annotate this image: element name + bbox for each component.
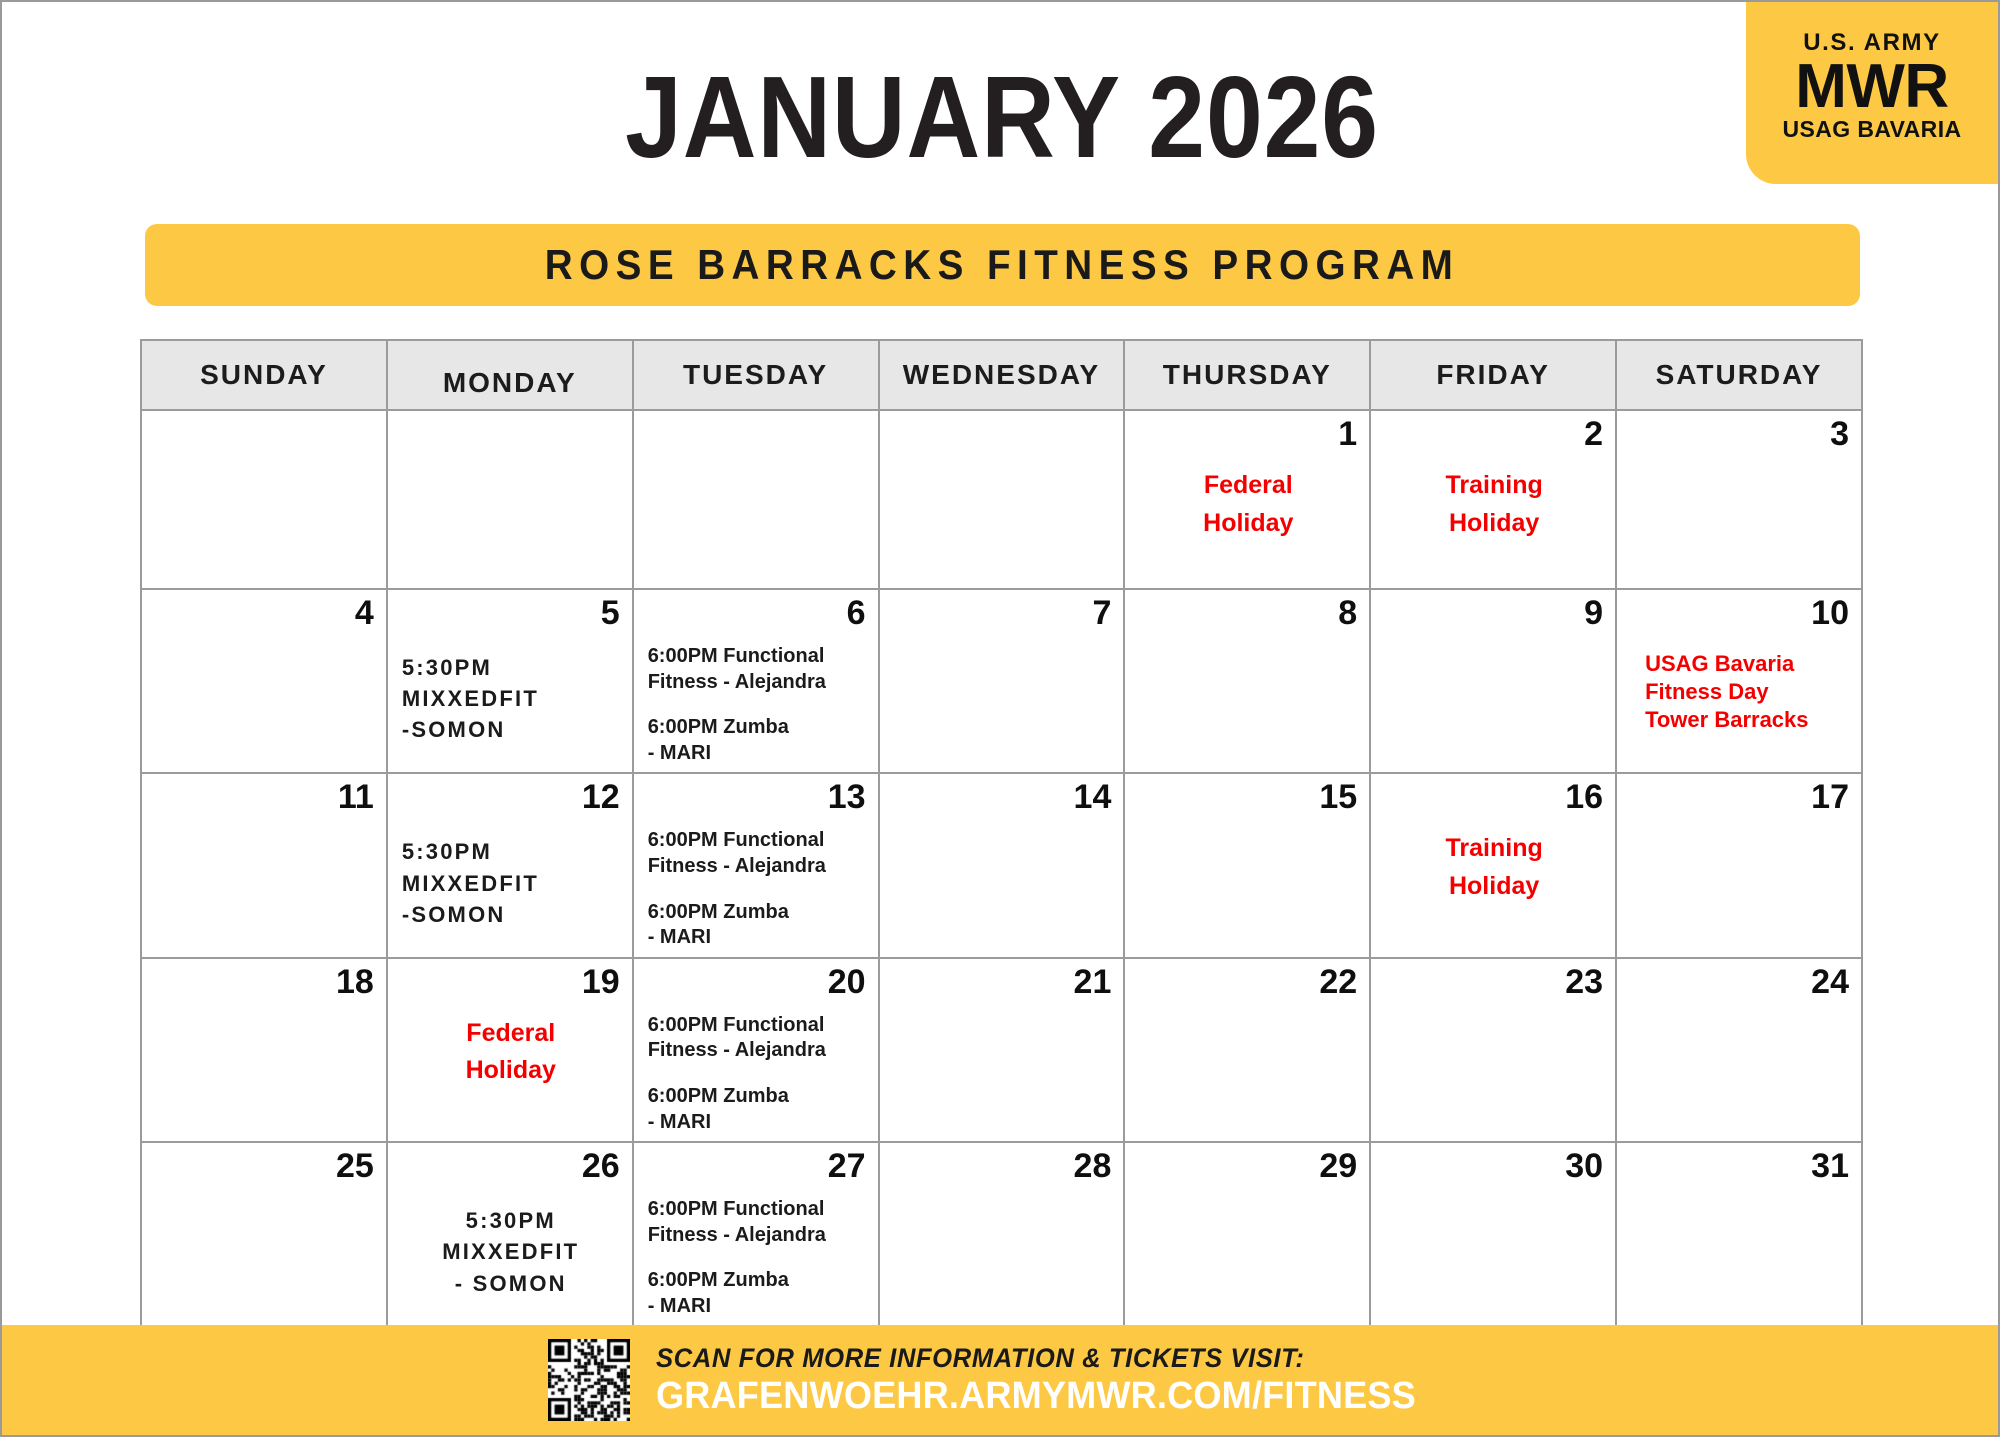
calendar-day-cell[interactable]: 8 — [1124, 589, 1370, 773]
holiday-label: TrainingHoliday — [1385, 830, 1603, 905]
day-number: 21 — [894, 965, 1112, 1003]
calendar-week-row: 25265:30PMMIXXEDFIT- SOMON276:00PM Funct… — [141, 1142, 1862, 1326]
footer-scan-label: SCAN FOR MORE INFORMATION & TICKETS VISI… — [656, 1343, 1416, 1375]
class-listing-line: Fitness - Alejandra — [648, 854, 866, 880]
calendar-day-cell[interactable]: 11 — [141, 773, 387, 957]
calendar-day-cell[interactable]: 22 — [1124, 958, 1370, 1142]
class-listing: 6:00PM FunctionalFitness - Alejandra — [648, 1197, 866, 1248]
day-cell-content: FederalHoliday — [1139, 467, 1357, 542]
calendar-day-cell[interactable]: 14 — [879, 773, 1125, 957]
calendar-empty-cell — [879, 410, 1125, 589]
day-number: 11 — [156, 780, 374, 818]
program-subtitle-banner: ROSE BARRACKS FITNESS PROGRAM — [145, 224, 1860, 306]
class-listing-line: Fitness - Alejandra — [648, 670, 866, 696]
class-listing-line: - MARI — [648, 1294, 866, 1320]
calendar-day-cell[interactable]: 7 — [879, 589, 1125, 773]
calendar-empty-cell — [633, 410, 879, 589]
class-listing-line: 5:30PM — [402, 652, 620, 683]
calendar-day-cell[interactable]: 28 — [879, 1142, 1125, 1326]
day-number: 9 — [1385, 596, 1603, 634]
calendar-day-cell[interactable]: 276:00PM FunctionalFitness - Alejandra6:… — [633, 1142, 879, 1326]
day-cell-content: USAG BavariaFitness DayTower Barracks — [1631, 650, 1849, 734]
calendar-day-cell[interactable]: 265:30PMMIXXEDFIT- SOMON — [387, 1142, 633, 1326]
dow-header-saturday: SATURDAY — [1616, 340, 1862, 410]
day-cell-content: 5:30PMMIXXEDFIT-SOMON — [402, 836, 620, 930]
calendar-body: 1FederalHoliday2TrainingHoliday3455:30PM… — [141, 410, 1862, 1327]
class-listing: 6:00PM FunctionalFitness - Alejandra — [648, 828, 866, 879]
calendar-day-cell[interactable]: 10USAG BavariaFitness DayTower Barracks — [1616, 589, 1862, 773]
day-number: 23 — [1385, 965, 1603, 1003]
holiday-label: FederalHoliday — [1139, 467, 1357, 542]
special-event-note: USAG BavariaFitness DayTower Barracks — [1631, 650, 1849, 734]
calendar-day-cell[interactable]: 9 — [1370, 589, 1616, 773]
day-number: 15 — [1139, 780, 1357, 818]
calendar-day-cell[interactable]: 1FederalHoliday — [1124, 410, 1370, 589]
day-number: 25 — [156, 1149, 374, 1187]
day-cell-content: 6:00PM FunctionalFitness - Alejandra6:00… — [648, 1013, 866, 1135]
day-cell-content: 6:00PM FunctionalFitness - Alejandra6:00… — [648, 1197, 866, 1319]
calendar-empty-cell — [387, 410, 633, 589]
holiday-label-line: Holiday — [402, 1052, 620, 1090]
calendar-week-row: 1FederalHoliday2TrainingHoliday3 — [141, 410, 1862, 589]
day-number — [894, 417, 1112, 455]
calendar-day-cell[interactable]: 31 — [1616, 1142, 1862, 1326]
class-listing-line: 6:00PM Zumba — [648, 715, 866, 741]
special-event-note-line: Fitness Day — [1645, 678, 1849, 706]
dow-header-sunday: SUNDAY — [141, 340, 387, 410]
day-cell-content: TrainingHoliday — [1385, 830, 1603, 905]
day-cell-content: FederalHoliday — [402, 1015, 620, 1090]
class-listing: 6:00PM Zumba- MARI — [648, 1268, 866, 1319]
class-listing-line: 6:00PM Functional — [648, 1197, 866, 1223]
calendar-day-cell[interactable]: 66:00PM FunctionalFitness - Alejandra6:0… — [633, 589, 879, 773]
day-number: 29 — [1139, 1149, 1357, 1187]
day-number: 4 — [156, 596, 374, 634]
day-number: 12 — [402, 780, 620, 818]
calendar-day-cell[interactable]: 4 — [141, 589, 387, 773]
day-number: 17 — [1631, 780, 1849, 818]
class-listing: 6:00PM FunctionalFitness - Alejandra — [648, 1013, 866, 1064]
class-listing-line: -SOMON — [402, 899, 620, 930]
holiday-label-line: Federal — [1139, 467, 1357, 505]
program-subtitle-text: ROSE BARRACKS FITNESS PROGRAM — [545, 241, 1460, 289]
class-listing: 6:00PM Zumba- MARI — [648, 715, 866, 766]
class-listing: 6:00PM FunctionalFitness - Alejandra — [648, 644, 866, 695]
class-listing-line: 6:00PM Functional — [648, 1013, 866, 1039]
class-listing: 5:30PMMIXXEDFIT-SOMON — [402, 652, 620, 746]
class-listing-line: -SOMON — [402, 714, 620, 745]
day-number: 2 — [1385, 417, 1603, 455]
footer-banner: SCAN FOR MORE INFORMATION & TICKETS VISI… — [2, 1325, 2000, 1435]
calendar-header-row: SUNDAY MONDAY TUESDAY WEDNESDAY THURSDAY… — [141, 340, 1862, 410]
calendar-day-cell[interactable]: 206:00PM FunctionalFitness - Alejandra6:… — [633, 958, 879, 1142]
calendar-week-row: 11125:30PMMIXXEDFIT-SOMON136:00PM Functi… — [141, 773, 1862, 957]
special-event-note-line: USAG Bavaria — [1645, 650, 1849, 678]
calendar-day-cell[interactable]: 19FederalHoliday — [387, 958, 633, 1142]
holiday-label-line: Holiday — [1139, 505, 1357, 543]
class-listing-line: - MARI — [648, 741, 866, 767]
dow-header-friday: FRIDAY — [1370, 340, 1616, 410]
calendar-day-cell[interactable]: 17 — [1616, 773, 1862, 957]
calendar-day-cell[interactable]: 16TrainingHoliday — [1370, 773, 1616, 957]
class-listing-line: - MARI — [648, 925, 866, 951]
calendar-day-cell[interactable]: 23 — [1370, 958, 1616, 1142]
holiday-label-line: Training — [1385, 467, 1603, 505]
day-number: 5 — [402, 596, 620, 634]
class-listing-line: 6:00PM Functional — [648, 828, 866, 854]
class-listing-line: - MARI — [648, 1110, 866, 1136]
qr-code-icon[interactable] — [548, 1339, 630, 1421]
day-number: 28 — [894, 1149, 1112, 1187]
holiday-label-line: Federal — [402, 1015, 620, 1053]
calendar-day-cell[interactable]: 136:00PM FunctionalFitness - Alejandra6:… — [633, 773, 879, 957]
day-number — [648, 417, 866, 455]
day-cell-content: 5:30PMMIXXEDFIT- SOMON — [402, 1205, 620, 1299]
class-listing-line: MIXXEDFIT — [402, 1236, 620, 1267]
calendar-day-cell[interactable]: 125:30PMMIXXEDFIT-SOMON — [387, 773, 633, 957]
class-listing-line: Fitness - Alejandra — [648, 1223, 866, 1249]
class-listing-line: 6:00PM Zumba — [648, 900, 866, 926]
calendar-day-cell[interactable]: 2TrainingHoliday — [1370, 410, 1616, 589]
day-number: 22 — [1139, 965, 1357, 1003]
dow-header-monday: MONDAY — [387, 340, 633, 410]
calendar-week-row: 455:30PMMIXXEDFIT-SOMON66:00PM Functiona… — [141, 589, 1862, 773]
day-cell-content: 5:30PMMIXXEDFIT-SOMON — [402, 652, 620, 746]
calendar-week-row: 1819FederalHoliday206:00PM FunctionalFit… — [141, 958, 1862, 1142]
footer-text-block: SCAN FOR MORE INFORMATION & TICKETS VISI… — [656, 1343, 1456, 1417]
day-number: 19 — [402, 965, 620, 1003]
calendar-grid: SUNDAY MONDAY TUESDAY WEDNESDAY THURSDAY… — [140, 339, 1863, 1328]
day-number: 30 — [1385, 1149, 1603, 1187]
class-listing: 5:30PMMIXXEDFIT- SOMON — [402, 1205, 620, 1299]
calendar-day-cell[interactable]: 25 — [141, 1142, 387, 1326]
day-number: 31 — [1631, 1149, 1849, 1187]
calendar-day-cell[interactable]: 21 — [879, 958, 1125, 1142]
calendar-day-cell[interactable]: 55:30PMMIXXEDFIT-SOMON — [387, 589, 633, 773]
class-listing: 6:00PM Zumba- MARI — [648, 900, 866, 951]
day-number — [402, 417, 620, 455]
footer-url[interactable]: GRAFENWOEHR.ARMYMWR.COM/FITNESS — [656, 1375, 1416, 1418]
calendar-day-cell[interactable]: 15 — [1124, 773, 1370, 957]
class-listing-line: 6:00PM Functional — [648, 644, 866, 670]
calendar-day-cell[interactable]: 24 — [1616, 958, 1862, 1142]
class-listing: 6:00PM Zumba- MARI — [648, 1084, 866, 1135]
class-listing-line: MIXXEDFIT — [402, 868, 620, 899]
day-number: 13 — [648, 780, 866, 818]
class-listing-line: 6:00PM Zumba — [648, 1084, 866, 1110]
day-cell-content: 6:00PM FunctionalFitness - Alejandra6:00… — [648, 644, 866, 766]
day-number: 10 — [1631, 596, 1849, 634]
dow-header-thursday: THURSDAY — [1124, 340, 1370, 410]
day-number: 18 — [156, 965, 374, 1003]
holiday-label: FederalHoliday — [402, 1015, 620, 1090]
day-cell-content: 6:00PM FunctionalFitness - Alejandra6:00… — [648, 828, 866, 950]
calendar-poster: U.S. ARMY MWR USAG BAVARIA JANUARY 2026 … — [0, 0, 2000, 1437]
day-number: 20 — [648, 965, 866, 1003]
day-number: 7 — [894, 596, 1112, 634]
day-number — [156, 417, 374, 455]
day-number: 16 — [1385, 780, 1603, 818]
class-listing-line: Fitness - Alejandra — [648, 1038, 866, 1064]
day-number: 14 — [894, 780, 1112, 818]
holiday-label-line: Holiday — [1385, 868, 1603, 906]
calendar-day-cell[interactable]: 3 — [1616, 410, 1862, 589]
day-number: 24 — [1631, 965, 1849, 1003]
day-number: 3 — [1631, 417, 1849, 455]
dow-header-wednesday: WEDNESDAY — [879, 340, 1125, 410]
page-title: JANUARY 2026 — [122, 54, 1882, 182]
calendar-day-cell[interactable]: 30 — [1370, 1142, 1616, 1326]
holiday-label-line: Training — [1385, 830, 1603, 868]
day-number: 26 — [402, 1149, 620, 1187]
calendar-empty-cell — [141, 410, 387, 589]
day-number: 27 — [648, 1149, 866, 1187]
class-listing-line: 6:00PM Zumba — [648, 1268, 866, 1294]
holiday-label-line: Holiday — [1385, 505, 1603, 543]
class-listing-line: MIXXEDFIT — [402, 683, 620, 714]
day-number: 8 — [1139, 596, 1357, 634]
dow-header-tuesday: TUESDAY — [633, 340, 879, 410]
calendar-day-cell[interactable]: 18 — [141, 958, 387, 1142]
class-listing-line: 5:30PM — [402, 836, 620, 867]
class-listing-line: - SOMON — [402, 1268, 620, 1299]
special-event-note-line: Tower Barracks — [1645, 706, 1849, 734]
holiday-label: TrainingHoliday — [1385, 467, 1603, 542]
class-listing: 5:30PMMIXXEDFIT-SOMON — [402, 836, 620, 930]
day-cell-content: TrainingHoliday — [1385, 467, 1603, 542]
class-listing-line: 5:30PM — [402, 1205, 620, 1236]
calendar-day-cell[interactable]: 29 — [1124, 1142, 1370, 1326]
day-number: 1 — [1139, 417, 1357, 455]
day-number: 6 — [648, 596, 866, 634]
